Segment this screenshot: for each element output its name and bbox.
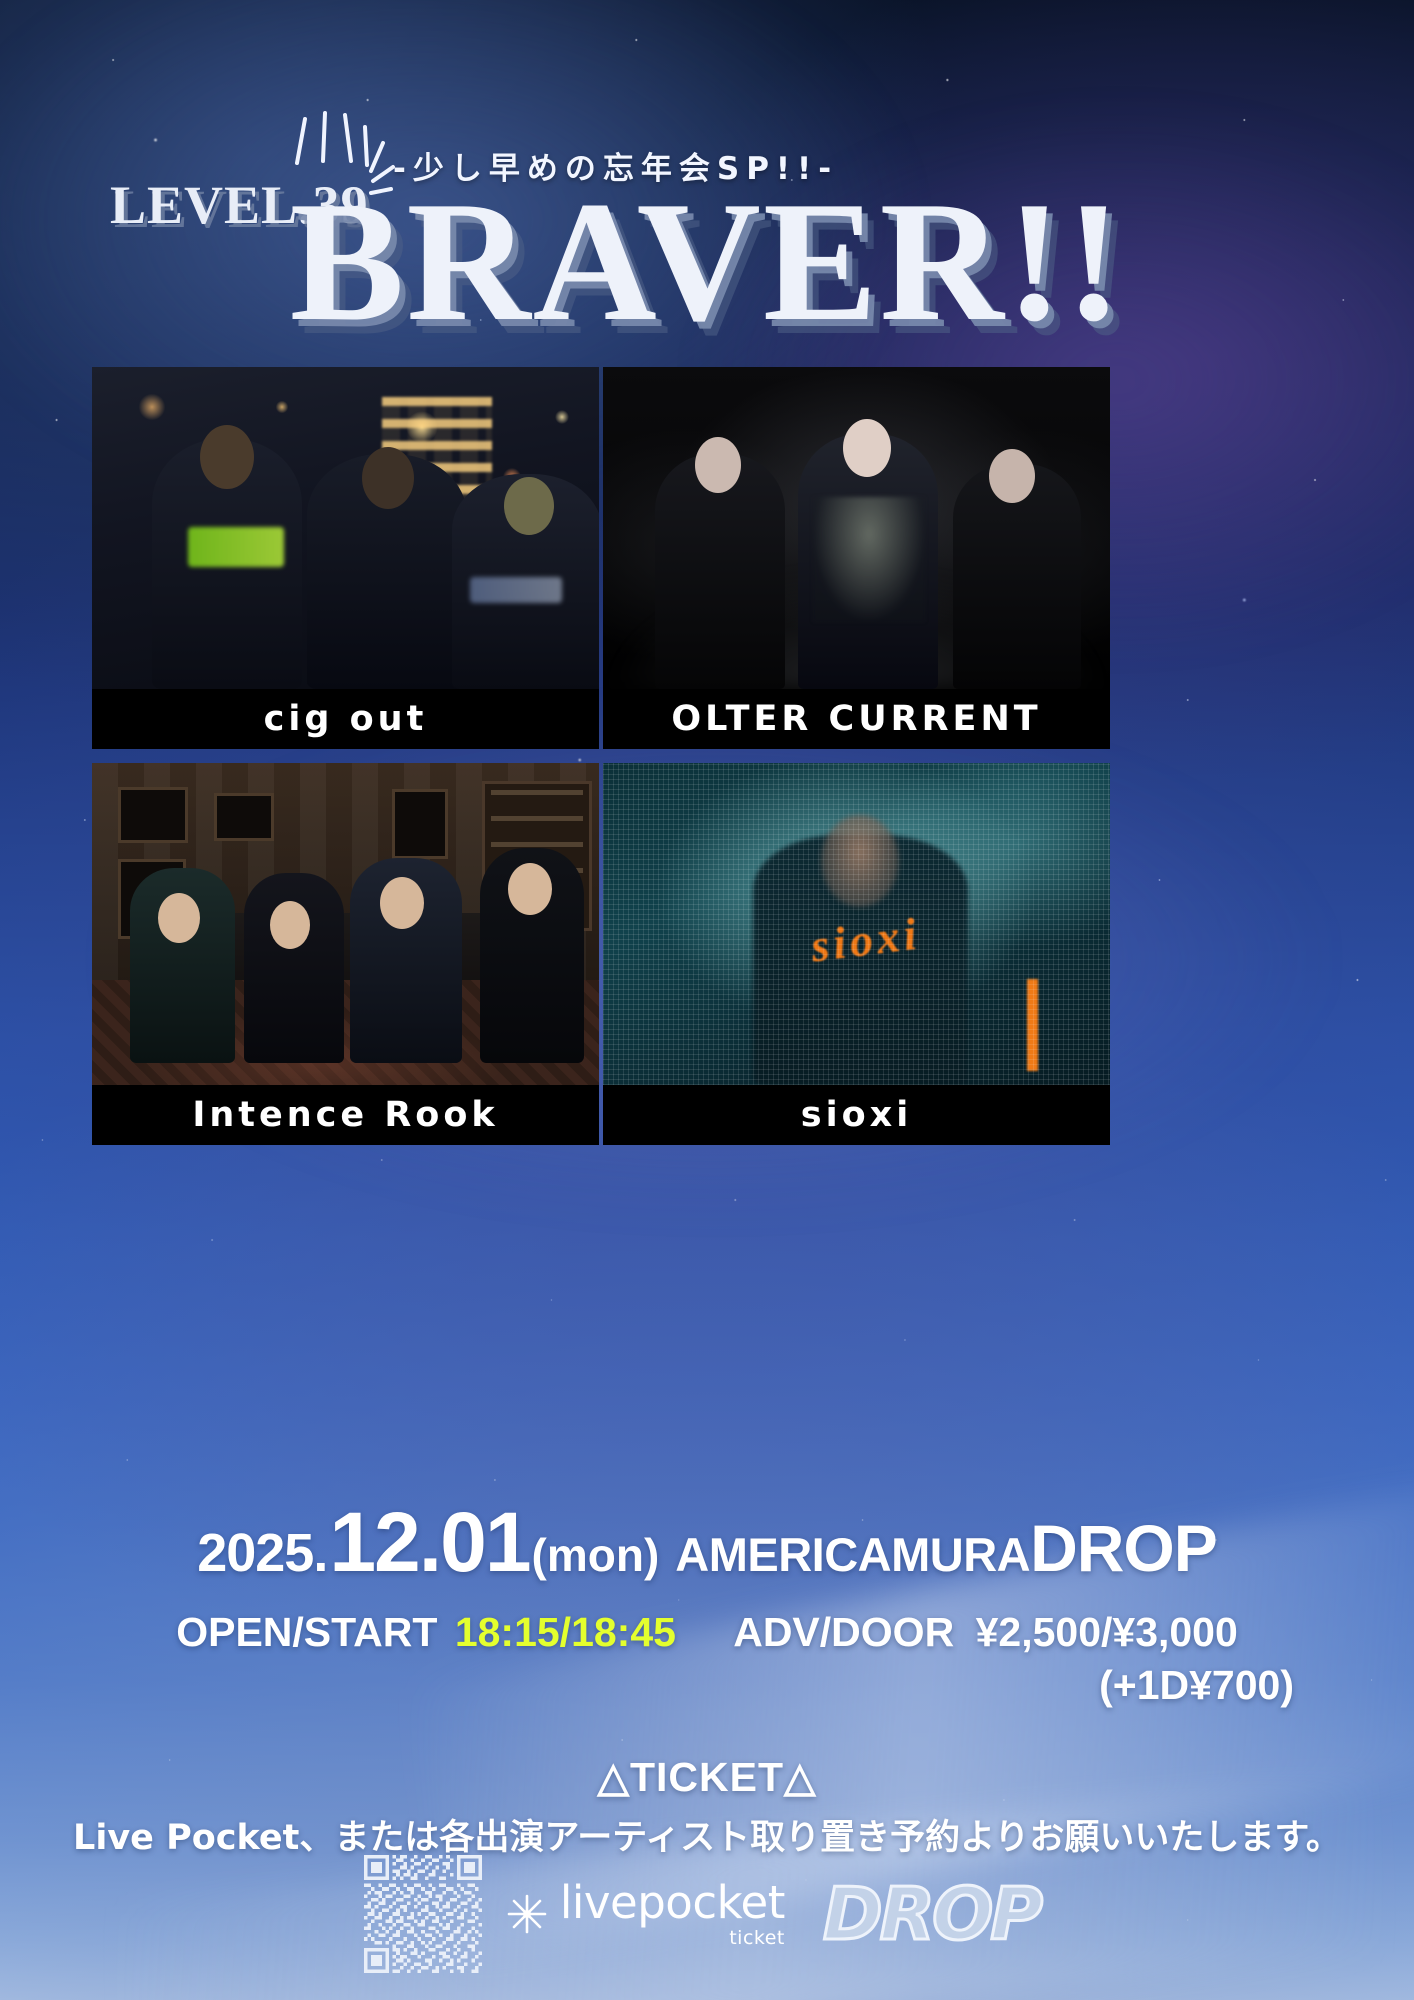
footer-logos: livepocket ticket DROP bbox=[0, 1855, 1414, 1973]
lineup-card-sioxi[interactable]: sioxi sioxi bbox=[603, 763, 1110, 1145]
event-year: 2025. bbox=[197, 1522, 327, 1584]
poster-root: LEVEL.39 -少し早めの忘年会SP!!- BRAVER!! cig out bbox=[0, 0, 1414, 2000]
ticket-note: Live Pocket、または各出演アーティスト取り置き予約よりお願いいたします… bbox=[0, 1809, 1414, 1860]
livepocket-sublabel: ticket bbox=[560, 1927, 785, 1949]
band-name-bar: sioxi bbox=[603, 1085, 1110, 1145]
event-day-of-week: (mon) bbox=[532, 1528, 660, 1582]
lineup-grid: cig out OLTER CURRENT bbox=[92, 367, 1110, 1159]
lineup-row-1: cig out OLTER CURRENT bbox=[92, 367, 1110, 749]
band-name-label: cig out bbox=[264, 699, 428, 739]
band-name-bar: OLTER CURRENT bbox=[603, 689, 1110, 749]
venue-area: AMERICAMURA bbox=[675, 1527, 1030, 1582]
event-date-line: 2025. 12.01 (mon) AMERICAMURA DROP bbox=[0, 1494, 1414, 1591]
lineup-card-cig-out[interactable]: cig out bbox=[92, 367, 599, 749]
livepocket-starburst-icon bbox=[504, 1891, 550, 1937]
event-info: 2025. 12.01 (mon) AMERICAMURA DROP OPEN/… bbox=[0, 1494, 1414, 1860]
band-photo-olter-current bbox=[603, 367, 1110, 689]
band-name-bar: cig out bbox=[92, 689, 599, 749]
event-day: 12.01 bbox=[329, 1494, 529, 1591]
lineup-row-2: Intence Rook sioxi sioxi bbox=[92, 763, 1110, 1145]
adv-door-price: ¥2,500/¥3,000 bbox=[976, 1609, 1238, 1655]
livepocket-wordmark: livepocket bbox=[560, 1880, 785, 1925]
livepocket-logo[interactable]: livepocket ticket bbox=[504, 1880, 785, 1949]
ticket-heading: △TICKET△ bbox=[0, 1753, 1414, 1801]
adv-door-label: ADV/DOOR bbox=[733, 1609, 954, 1655]
band-photo-intence-rook bbox=[92, 763, 599, 1085]
band-name-bar: Intence Rook bbox=[92, 1085, 599, 1145]
band-name-label: Intence Rook bbox=[192, 1095, 498, 1135]
lineup-card-olter-current[interactable]: OLTER CURRENT bbox=[603, 367, 1110, 749]
drop-venue-logo: DROP bbox=[813, 1876, 1050, 1952]
venue-name: DROP bbox=[1030, 1510, 1217, 1586]
lineup-card-intence-rook[interactable]: Intence Rook bbox=[92, 763, 599, 1145]
page-title: BRAVER!! bbox=[0, 176, 1414, 348]
drink-fee-note: (+1D¥700) bbox=[0, 1662, 1414, 1709]
band-photo-cig-out bbox=[92, 367, 599, 689]
band-name-label: sioxi bbox=[801, 1095, 912, 1135]
qr-code-icon[interactable] bbox=[364, 1855, 482, 1973]
open-start-time: 18:15/18:45 bbox=[455, 1609, 676, 1655]
times-and-prices-line: OPEN/START 18:15/18:45 ADV/DOOR ¥2,500/¥… bbox=[0, 1609, 1414, 1656]
band-name-label: OLTER CURRENT bbox=[671, 699, 1041, 739]
open-start-label: OPEN/START bbox=[176, 1609, 437, 1655]
band-photo-sioxi: sioxi bbox=[603, 763, 1110, 1085]
